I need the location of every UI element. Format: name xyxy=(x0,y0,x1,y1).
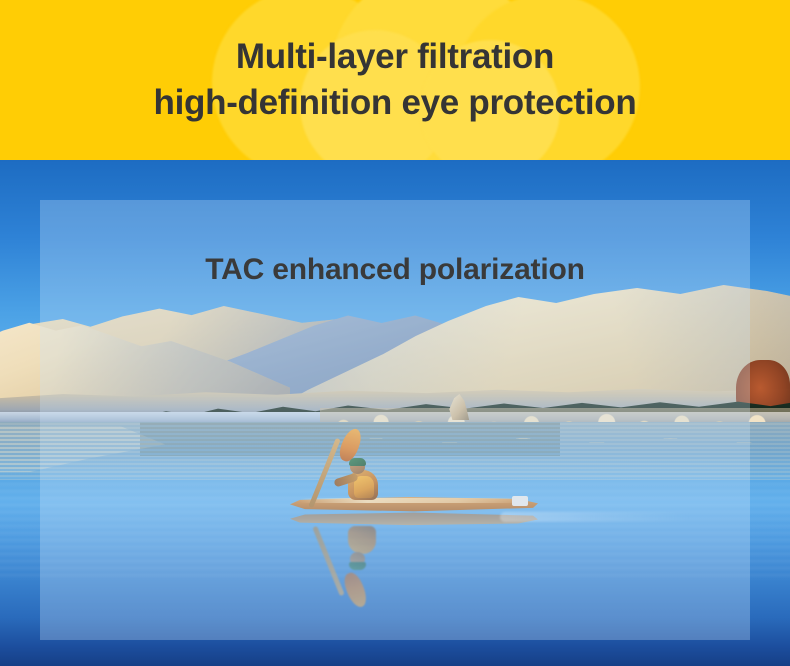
paddler-cap-reflection xyxy=(349,562,366,570)
paddle-blade-reflection xyxy=(341,570,370,610)
banner-headline: Multi-layer filtration high-definition e… xyxy=(0,0,790,160)
kayak-stern-tip xyxy=(512,496,528,506)
paddler-cap xyxy=(349,458,366,466)
banner-headline-line-1: Multi-layer filtration xyxy=(236,34,554,80)
paddle-shaft-reflection xyxy=(312,526,344,596)
header-banner: Multi-layer filtration high-definition e… xyxy=(0,0,790,160)
scenic-lake-photo xyxy=(0,160,790,666)
banner-headline-line-2: high-definition eye protection xyxy=(154,80,637,126)
product-feature-banner-page: Multi-layer filtration high-definition e… xyxy=(0,0,790,666)
kayak-hull-highlight xyxy=(300,498,525,503)
overlay-caption-text: TAC enhanced polarization xyxy=(205,253,584,287)
paddler-torso-reflection xyxy=(348,526,376,554)
water-wake-trail xyxy=(500,512,690,522)
kayak-reflection xyxy=(290,512,550,662)
overlay-caption: TAC enhanced polarization xyxy=(40,240,750,300)
